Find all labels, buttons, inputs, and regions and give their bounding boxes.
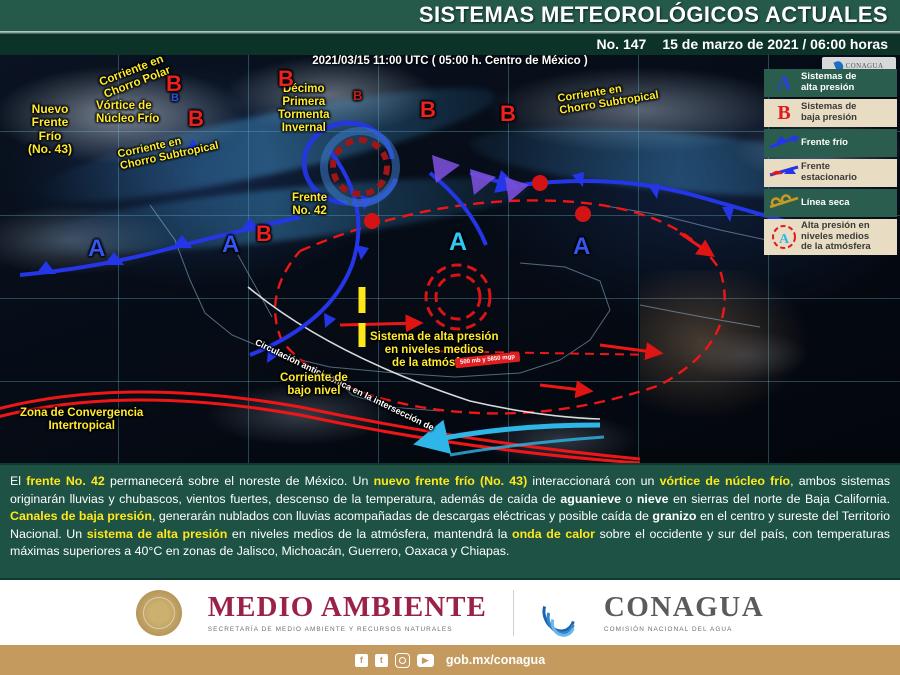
dry-line-icon <box>767 191 801 215</box>
youtube-icon[interactable]: ▶ <box>417 654 434 667</box>
symbol-B-gulf: B <box>420 99 436 121</box>
footer-logos: MEDIO AMBIENTE SECRETARÍA DE MEDIO AMBIE… <box>0 580 900 645</box>
agency-subtitle: COMISIÓN NACIONAL DEL AGUA <box>604 626 764 633</box>
symbol-B-mexico-west: B <box>256 223 272 245</box>
satellite-weather-map[interactable]: Nuevo Frente Frío (No. 43) Corriente en … <box>0 55 900 463</box>
ministry-logo: MEDIO AMBIENTE SECRETARÍA DE MEDIO AMBIE… <box>208 593 487 633</box>
symbol-B-winter-storm: B <box>278 68 294 90</box>
twitter-icon[interactable]: t <box>375 654 388 667</box>
low-pressure-B-icon: B <box>767 101 801 125</box>
symbol-B-northeast: B <box>500 103 516 125</box>
legend-item-cold-front[interactable]: Frente frío <box>764 129 897 157</box>
forecast-paragraph: El frente No. 42 permanecerá sobre el no… <box>10 473 890 561</box>
high-pressure-A-icon: A <box>767 71 801 95</box>
legend-label-cold-front: Frente frío <box>801 138 848 149</box>
symbol-B-northwest: B <box>188 108 204 130</box>
ministry-subtitle: SECRETARÍA DE MEDIO AMBIENTE Y RECURSOS … <box>208 626 487 633</box>
cold-front-icon <box>767 131 801 155</box>
legend-item-stationary-front[interactable]: Frente estacionario <box>764 159 897 187</box>
facebook-icon[interactable]: f <box>355 654 368 667</box>
legend-item-dry-line[interactable]: Línea seca <box>764 189 897 217</box>
legend-item-mid-level-high[interactable]: A Alta presión en niveles medios de la a… <box>764 219 897 255</box>
conagua-logo-icon <box>540 591 578 635</box>
symbol-A-mid-level-high: A <box>449 230 467 255</box>
bulletin-number: No. 147 <box>597 36 647 52</box>
page-title: SISTEMAS METEOROLÓGICOS ACTUALES <box>419 2 888 28</box>
symbol-A-baja-california: A <box>222 233 239 257</box>
header-subtitle: No. 14715 de marzo de 2021 / 06:00 horas <box>597 34 889 55</box>
social-bar: f t ▶ gob.mx/conagua <box>0 645 900 675</box>
legend-label-high-pressure: Sistemas de alta presión <box>801 72 856 93</box>
legend-label-mid-level-high: Alta presión en niveles medios de la atm… <box>801 221 871 253</box>
mid-level-high-A-icon: A <box>767 225 801 249</box>
legend-item-low-pressure[interactable]: B Sistemas de baja presión <box>764 99 897 127</box>
agency-logo: CONAGUA COMISIÓN NACIONAL DEL AGUA <box>604 593 764 633</box>
utc-timestamp: 2021/03/15 11:00 UTC ( 05:00 h. Centro d… <box>0 55 900 67</box>
symbol-B-vortex-core: B <box>171 93 179 104</box>
agency-name: CONAGUA <box>604 593 764 622</box>
symbol-B-storm-center: B <box>353 89 362 102</box>
map-legend: A Sistemas de alta presión B Sistemas de… <box>764 69 897 257</box>
ministry-name: MEDIO AMBIENTE <box>208 593 487 622</box>
instagram-icon[interactable] <box>395 653 410 668</box>
stationary-front-icon <box>767 161 801 185</box>
weather-bulletin-page: SISTEMAS METEOROLÓGICOS ACTUALES No. 147… <box>0 0 900 675</box>
legend-label-dry-line: Línea seca <box>801 198 850 209</box>
svg-text:A: A <box>779 232 790 247</box>
symbol-A-pacific-northwest: A <box>88 237 105 261</box>
conagua-url[interactable]: gob.mx/conagua <box>446 653 545 667</box>
legend-item-high-pressure[interactable]: A Sistemas de alta presión <box>764 69 897 97</box>
legend-label-low-pressure: Sistemas de baja presión <box>801 102 857 123</box>
mexico-national-seal-icon <box>136 590 182 636</box>
bulletin-date: 15 de marzo de 2021 / 06:00 horas <box>662 36 888 52</box>
forecast-text-panel: El frente No. 42 permanecerá sobre el no… <box>0 463 900 580</box>
footer-divider <box>513 590 514 636</box>
legend-label-stationary-front: Frente estacionario <box>801 162 857 183</box>
symbol-A-atlantic: A <box>573 235 590 259</box>
